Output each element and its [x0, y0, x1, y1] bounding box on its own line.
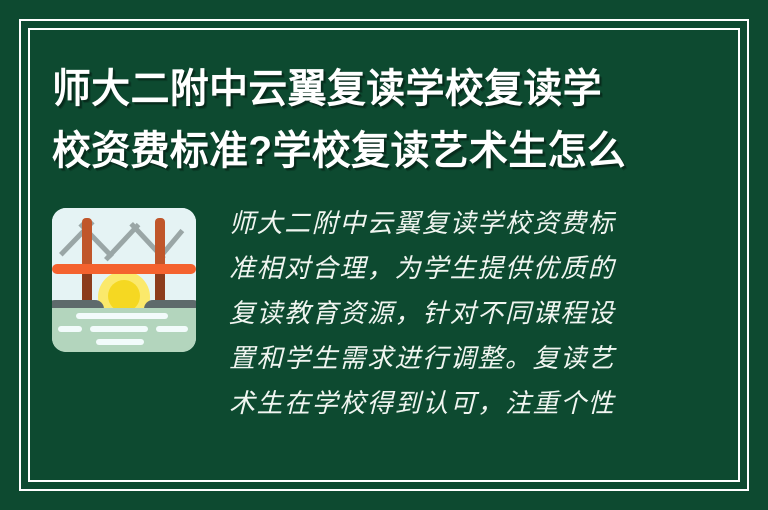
body-line-3: 复读教育资源，针对不同课程设: [229, 292, 716, 337]
body-line-5: 术生在学校得到认可，注重个性: [229, 382, 716, 427]
body-line-1: 师大二附中云翼复读学校资费标: [229, 202, 716, 247]
body-line-2: 准相对合理，为学生提供优质的: [229, 247, 716, 292]
water-ripple-icon: [90, 326, 148, 332]
title-line-2: 校资费标准?学校复读艺术生怎么: [52, 120, 696, 182]
body-paragraph: 师大二附中云翼复读学校资费标 准相对合理，为学生提供优质的 复读教育资源，针对不…: [229, 200, 716, 427]
water-surface: [52, 308, 196, 352]
water-ripple-icon: [156, 326, 188, 332]
water-ripple-icon: [58, 326, 82, 332]
water-ripple-icon: [76, 313, 168, 319]
content-row: 师大二附中云翼复读学校资费标 准相对合理，为学生提供优质的 复读教育资源，针对不…: [52, 200, 716, 427]
title-line-1: 师大二附中云翼复读学校复读学: [52, 58, 696, 120]
poster-canvas: { "theme": { "background_color": "#0d4a3…: [0, 0, 768, 510]
suspension-bridge-sunset-icon: [52, 208, 196, 352]
bridge-deck-icon: [52, 264, 196, 274]
page-title: 师大二附中云翼复读学校复读学 校资费标准?学校复读艺术生怎么: [52, 58, 716, 182]
water-ripple-icon: [96, 339, 144, 345]
body-line-4: 置和学生需求进行调整。复读艺: [229, 337, 716, 382]
